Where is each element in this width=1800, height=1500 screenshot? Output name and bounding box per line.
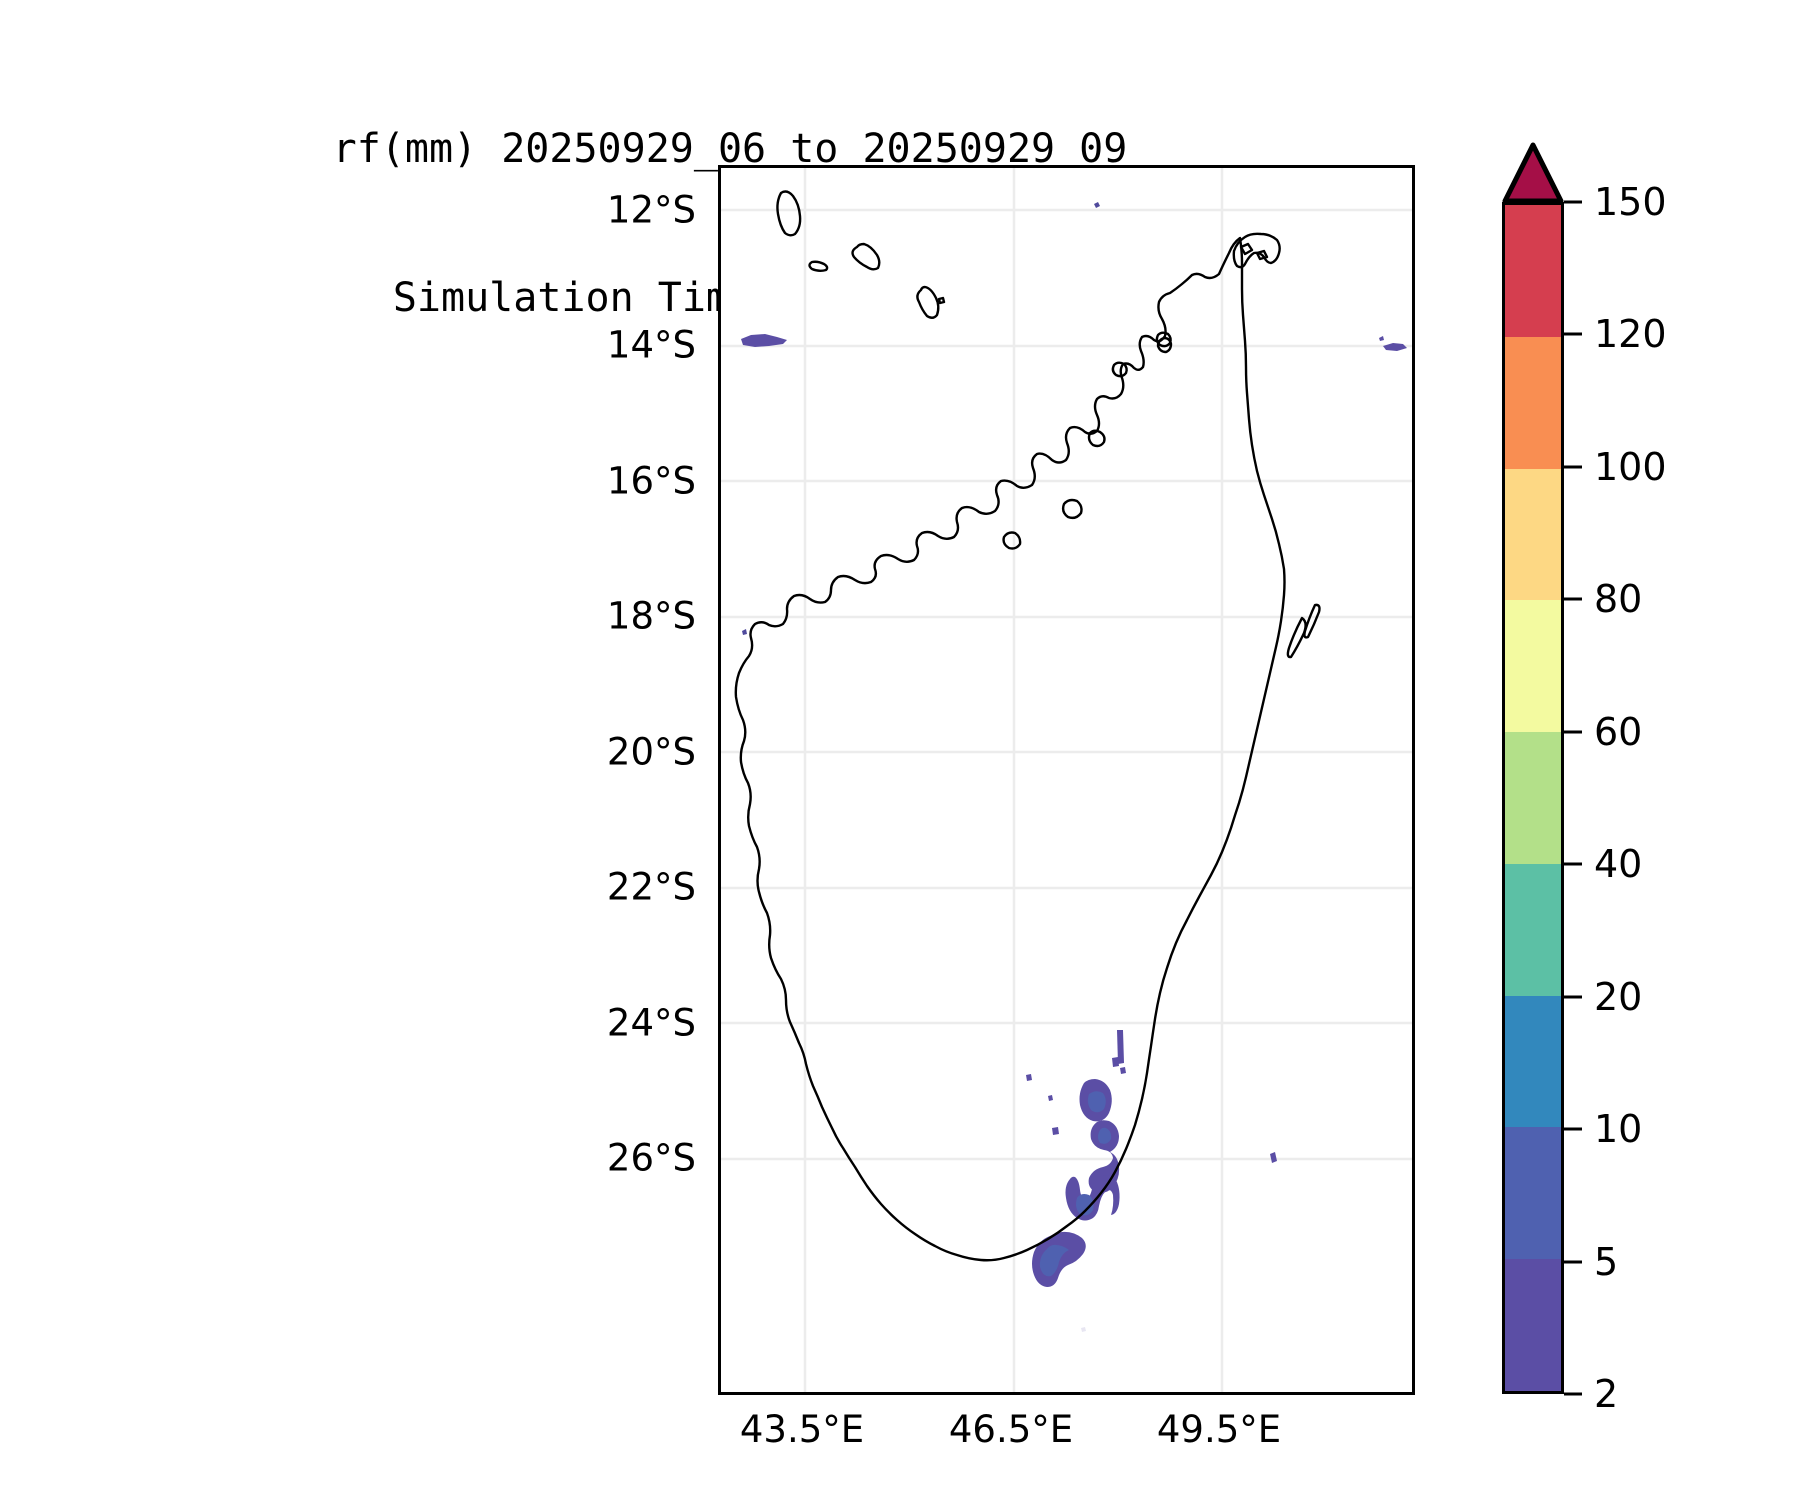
ytick-label-24s: 24°S — [607, 1002, 696, 1045]
colorbar-tick-20 — [1564, 996, 1582, 999]
map-gridlines — [721, 168, 1412, 1392]
colorbar-tick-120 — [1564, 333, 1582, 336]
colorbar-tick-5 — [1564, 1261, 1582, 1264]
coast-mayotte-islet — [939, 298, 944, 303]
colorbar-label-20: 20 — [1594, 975, 1642, 1019]
colorbar-tick-80 — [1564, 598, 1582, 601]
ytick-label-14s: 14°S — [607, 324, 696, 367]
rain-speck-east-offshore — [1379, 336, 1384, 341]
colorbar-band-100-120 — [1505, 337, 1561, 469]
rain-speck-highlands-n3 — [1120, 1067, 1126, 1074]
colorbar-band-120-150 — [1505, 205, 1561, 337]
colorbar-band-60-80 — [1505, 600, 1561, 732]
coast-ste-marie — [1304, 605, 1319, 638]
colorbar-label-100: 100 — [1594, 445, 1667, 489]
rain-cell-east-offshore — [1383, 343, 1407, 351]
colorbar-label-120: 120 — [1594, 312, 1667, 356]
colorbar-label-5: 5 — [1594, 1240, 1618, 1284]
colorbar-tick-40 — [1564, 863, 1582, 866]
colorbar-label-40: 40 — [1594, 842, 1642, 886]
ytick-label-26s: 26°S — [607, 1137, 696, 1180]
xtick-label-46-5e: 46.5°E — [949, 1408, 1073, 1451]
colorbar-label-80: 80 — [1594, 577, 1642, 621]
ytick-label-12s: 12°S — [607, 189, 696, 232]
colorbar-tick-60 — [1564, 731, 1582, 734]
rainfall-contours — [741, 202, 1407, 1332]
xtick-label-49-5e: 49.5°E — [1157, 1408, 1281, 1451]
colorbar-label-10: 10 — [1594, 1107, 1642, 1151]
coast-ne-inlet-4 — [1063, 500, 1081, 518]
xtick-label-43-5e: 43.5°E — [740, 1408, 864, 1451]
colorbar-band-2-5 — [1505, 1259, 1561, 1391]
rain-speck-south-inland — [1081, 1327, 1086, 1332]
colorbar-band-10-20 — [1505, 996, 1561, 1128]
colorbar-tick-100 — [1564, 466, 1582, 469]
rain-cell-highlands-a-inner — [1088, 1091, 1106, 1112]
colorbar: 150 120 100 80 60 40 20 10 5 2 — [1502, 142, 1564, 1394]
rain-speck-west-edge — [742, 629, 747, 635]
coast-pangalanes-sliver — [1288, 618, 1306, 657]
coast-ne-inlet-5 — [1004, 533, 1021, 549]
colorbar-band-80-100 — [1505, 469, 1561, 601]
colorbar-tick-10 — [1564, 1128, 1582, 1131]
ytick-label-16s: 16°S — [607, 460, 696, 503]
coast-ne-inlet-3 — [1089, 431, 1105, 446]
coast-moheli — [810, 262, 828, 271]
map-plot-area[interactable] — [718, 165, 1415, 1395]
colorbar-bands — [1502, 202, 1564, 1394]
rain-speck-highlands-w3 — [1052, 1127, 1059, 1135]
colorbar-tick-2 — [1564, 1393, 1582, 1396]
coastlines — [736, 192, 1320, 1261]
coast-grande-comore — [777, 192, 800, 236]
ytick-label-20s: 20°S — [607, 731, 696, 774]
rain-cell-southeast-offshore — [1270, 1152, 1277, 1163]
colorbar-label-150: 150 — [1594, 180, 1667, 224]
colorbar-tick-150 — [1564, 201, 1582, 204]
coast-madagascar-mainland — [736, 238, 1285, 1260]
rain-speck-highlands-w2 — [1048, 1095, 1053, 1101]
rain-speck-north-inland — [1094, 202, 1100, 208]
ytick-label-18s: 18°S — [607, 595, 696, 638]
madagascar-map — [721, 168, 1412, 1392]
rain-speck-highlands-n2 — [1112, 1057, 1119, 1067]
colorbar-label-2: 2 — [1594, 1372, 1618, 1416]
coast-mayotte — [917, 287, 938, 318]
coast-anjouan — [853, 244, 880, 269]
colorbar-band-5-10 — [1505, 1127, 1561, 1259]
colorbar-band-40-60 — [1505, 732, 1561, 864]
colorbar-label-60: 60 — [1594, 710, 1642, 754]
ytick-label-22s: 22°S — [607, 866, 696, 909]
colorbar-band-20-40 — [1505, 864, 1561, 996]
rain-speck-highlands-w1 — [1026, 1074, 1032, 1081]
colorbar-extend-arrow — [1502, 142, 1564, 204]
